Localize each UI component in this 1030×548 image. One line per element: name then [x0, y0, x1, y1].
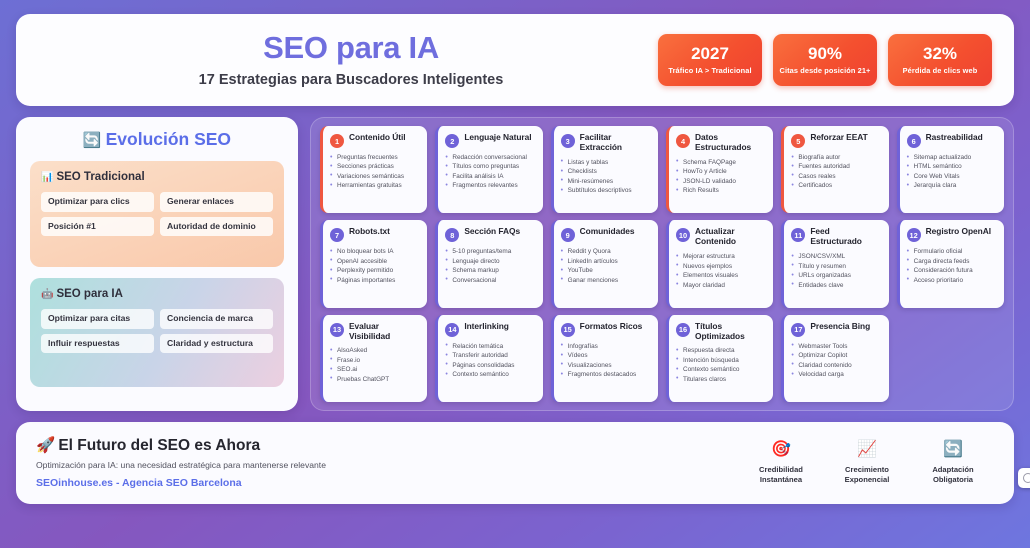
- strategy-number-badge: 5: [791, 134, 805, 148]
- stat-card: 2027 Tráfico IA > Tradicional: [658, 34, 762, 86]
- strategy-item: Reddit y Quora: [561, 247, 651, 256]
- strategy-card-title: Registro OpenAI: [926, 227, 991, 237]
- strategy-item-list: Relación temáticaTransferir autoridadPág…: [445, 342, 535, 380]
- strategy-number-badge: 8: [445, 228, 459, 242]
- strategy-card-head: 11Feed Estructurado: [791, 227, 881, 247]
- strategy-item: Biografía autor: [791, 153, 881, 162]
- chip: Autoridad de dominio: [160, 217, 273, 236]
- strategy-number-badge: 10: [676, 228, 690, 242]
- evolution-block-title: SEO Tradicional: [56, 171, 144, 183]
- infographic-stage: SEO para IA 17 Estrategias para Buscador…: [0, 0, 1030, 548]
- strategy-card[interactable]: 8Sección FAQs5-10 preguntas/temaLenguaje…: [435, 220, 542, 307]
- evolution-block-ai: 🤖SEO para IA Optimizar para citas Concie…: [30, 278, 284, 387]
- strategy-card-title: Reforzar EEAT: [810, 133, 867, 143]
- strategy-card[interactable]: 6RastreabilidadSitemap actualizadoHTML s…: [897, 126, 1004, 213]
- rocket-icon: 🚀: [36, 437, 55, 454]
- stat-value: 2027: [691, 45, 729, 63]
- strategy-card[interactable]: 17Presencia BingWebmaster ToolsOptimizar…: [781, 315, 888, 402]
- chip: Conciencia de marca: [160, 309, 273, 328]
- page-title: SEO para IA: [44, 31, 658, 65]
- strategy-card-title: Presencia Bing: [810, 322, 870, 332]
- strategy-item: 5-10 preguntas/tema: [445, 247, 535, 256]
- footer-text-block: 🚀El Futuro del SEO es Ahora Optimización…: [36, 437, 750, 490]
- strategy-card-title: Actualizar Contenido: [695, 227, 766, 247]
- strategy-card-head: 12Registro OpenAI: [907, 227, 997, 242]
- strategy-item: No bloquear bots IA: [330, 247, 420, 256]
- strategy-card-head: 17Presencia Bing: [791, 322, 881, 337]
- strategy-item: Títulos como preguntas: [445, 162, 535, 171]
- strategy-item: Perplexity permitido: [330, 266, 420, 275]
- strategy-item: URLs organizadas: [791, 271, 881, 280]
- stat-label: Pérdida de clics web: [903, 66, 978, 75]
- strategy-item-list: 5-10 preguntas/temaLenguaje directoSchem…: [445, 247, 535, 285]
- strategy-item: Claridad contenido: [791, 361, 881, 370]
- strategy-item: Contexto semántico: [676, 365, 766, 374]
- chip-group: Optimizar para clics Generar enlaces Pos…: [41, 192, 273, 236]
- strategy-card[interactable]: 5Reforzar EEATBiografía autorFuentes aut…: [781, 126, 888, 213]
- chip: Generar enlaces: [160, 192, 273, 211]
- strategy-card-title: Datos Estructurados: [695, 133, 766, 153]
- strategy-item-list: Sitemap actualizadoHTML semánticoCore We…: [907, 153, 997, 191]
- strategy-item-list: Schema FAQPageHowTo y ArticleJSON-LD val…: [676, 158, 766, 196]
- evolution-block-heading: 📊SEO Tradicional: [41, 171, 273, 184]
- footer-feature: 🔄 Adaptación Obligatoria: [922, 442, 984, 484]
- strategy-item: Entidades clave: [791, 281, 881, 290]
- strategy-card-head: 15Formatos Ricos: [561, 322, 651, 337]
- strategy-card[interactable]: 16Títulos OptimizadosRespuesta directaIn…: [666, 315, 773, 402]
- strategy-number-badge: 9: [561, 228, 575, 242]
- strategy-number-badge: 4: [676, 134, 690, 148]
- refresh-icon: 🔄: [922, 442, 984, 458]
- strategy-card[interactable]: 12Registro OpenAIFormulario oficialCarga…: [897, 220, 1004, 307]
- strategy-card[interactable]: 15Formatos RicosInfografíasVídeosVisuali…: [551, 315, 658, 402]
- strategy-item: Vídeos: [561, 351, 651, 360]
- strategy-grid-row: 7Robots.txtNo bloquear bots IAOpenAI acc…: [320, 220, 1004, 307]
- strategy-number-badge: 1: [330, 134, 344, 148]
- circle-icon: [1023, 473, 1030, 483]
- strategy-card-head: 8Sección FAQs: [445, 227, 535, 242]
- strategy-card[interactable]: 3Facilitar ExtracciónListas y tablasChec…: [551, 126, 658, 213]
- strategy-card-head: 6Rastreabilidad: [907, 133, 997, 148]
- strategy-item-list: Listas y tablasChecklistsMini-resúmenesS…: [561, 158, 651, 196]
- strategy-item: HowTo y Article: [676, 167, 766, 176]
- strategy-item: Título y resumen: [791, 262, 881, 271]
- stat-card-group: 2027 Tráfico IA > Tradicional 90% Citas …: [658, 34, 992, 86]
- strategy-card-head: 10Actualizar Contenido: [676, 227, 766, 247]
- strategy-item-list: Redacción conversacionalTítulos como pre…: [445, 153, 535, 191]
- footer-title: 🚀El Futuro del SEO es Ahora: [36, 437, 750, 455]
- strategy-item: Titulares claros: [676, 375, 766, 384]
- strategy-card-head: 3Facilitar Extracción: [561, 133, 651, 153]
- strategy-item: Intención búsqueda: [676, 356, 766, 365]
- strategy-card-title: Rastreabilidad: [926, 133, 983, 143]
- chip-group: Optimizar para citas Conciencia de marca…: [41, 309, 273, 353]
- strategy-item: LinkedIn artículos: [561, 257, 651, 266]
- strategy-item: Infografías: [561, 342, 651, 351]
- strategy-item: Secciones prácticas: [330, 162, 420, 171]
- strategy-item-list: Formulario oficialCarga directa feedsCon…: [907, 247, 997, 285]
- strategy-item: Listas y tablas: [561, 158, 651, 167]
- strategy-card[interactable]: 14InterlinkingRelación temáticaTransferi…: [435, 315, 542, 402]
- strategy-item: JSON/CSV/XML: [791, 252, 881, 261]
- stat-card: 32% Pérdida de clics web: [888, 34, 992, 86]
- strategy-item: Carga directa feeds: [907, 257, 997, 266]
- strategy-item-list: Webmaster ToolsOptimizar CopilotClaridad…: [791, 342, 881, 380]
- footer-feature-label: Crecimiento Exponencial: [836, 465, 898, 484]
- strategy-item: Fragmentos relevantes: [445, 181, 535, 190]
- strategy-item: Core Web Vitals: [907, 172, 997, 181]
- stat-value: 90%: [808, 45, 842, 63]
- footer-feature: 📈 Crecimiento Exponencial: [836, 442, 898, 484]
- footer-feature-label: Credibilidad Instantánea: [750, 465, 812, 484]
- strategy-item: Fragmentos destacados: [561, 370, 651, 379]
- strategy-item-list: InfografíasVídeosVisualizacionesFragment…: [561, 342, 651, 380]
- strategy-item: Nuevos ejemplos: [676, 262, 766, 271]
- header-titles: SEO para IA 17 Estrategias para Buscador…: [16, 31, 658, 88]
- strategy-card-head: 2Lenguaje Natural: [445, 133, 535, 148]
- strategy-item: Schema markup: [445, 266, 535, 275]
- strategy-item: SEO.ai: [330, 365, 420, 374]
- strategy-card-title: Evaluar Visibilidad: [349, 322, 420, 342]
- strategy-card-title: Facilitar Extracción: [580, 133, 651, 153]
- strategy-item: Relación temática: [445, 342, 535, 351]
- strategy-number-badge: 2: [445, 134, 459, 148]
- strategy-item: Lenguaje directo: [445, 257, 535, 266]
- strategy-item: Jerarquía clara: [907, 181, 997, 190]
- strategy-item: Subtítulos descriptivos: [561, 186, 651, 195]
- strategy-item: Elementos visuales: [676, 271, 766, 280]
- strategy-card-head: 16Títulos Optimizados: [676, 322, 766, 342]
- strategy-number-badge: 15: [561, 323, 575, 337]
- strategy-item: Facilita análisis IA: [445, 172, 535, 181]
- evolution-title: 🔄Evolución SEO: [30, 130, 284, 150]
- strategy-item: Pruebas ChatGPT: [330, 375, 420, 384]
- strategy-item: Frase.io: [330, 356, 420, 365]
- refresh-icon: 🔄: [83, 132, 102, 149]
- strategy-item-list: JSON/CSV/XMLTítulo y resumenURLs organiz…: [791, 252, 881, 290]
- chip: Posición #1: [41, 217, 154, 236]
- strategy-card[interactable]: 10Actualizar ContenidoMejorar estructura…: [666, 220, 773, 307]
- strategy-item: Transferir autoridad: [445, 351, 535, 360]
- middle-section: 🔄Evolución SEO 📊SEO Tradicional Optimiza…: [16, 117, 1014, 411]
- strategy-item: Casos reales: [791, 172, 881, 181]
- strategy-item: AlsoAsked: [330, 346, 420, 355]
- strategy-item: Schema FAQPage: [676, 158, 766, 167]
- strategy-item: Variaciones semánticas: [330, 172, 420, 181]
- strategy-card-title: Formatos Ricos: [580, 322, 643, 332]
- strategy-card-head: 5Reforzar EEAT: [791, 133, 881, 148]
- strategy-card-head: 4Datos Estructurados: [676, 133, 766, 153]
- target-icon: 🎯: [750, 442, 812, 458]
- footer-feature-label: Adaptación Obligatoria: [922, 465, 984, 484]
- bar-chart-icon: 📊: [41, 172, 53, 183]
- chip: Claridad y estructura: [160, 334, 273, 353]
- strategy-item: Ganar menciones: [561, 276, 651, 285]
- strategy-item: Consideración futura: [907, 266, 997, 275]
- strategy-item: Mayor claridad: [676, 281, 766, 290]
- evolution-title-text: Evolución SEO: [106, 129, 231, 149]
- strategy-grid-row: 1Contenido ÚtilPreguntas frecuentesSecci…: [320, 126, 1004, 213]
- stat-label: Tráfico IA > Tradicional: [668, 66, 751, 75]
- strategy-item: Conversacional: [445, 276, 535, 285]
- chart-increasing-icon: 📈: [836, 442, 898, 458]
- stat-value: 32%: [923, 45, 957, 63]
- strategy-card-title: Lenguaje Natural: [464, 133, 531, 143]
- strategy-item: Checklists: [561, 167, 651, 176]
- strategy-card-title: Sección FAQs: [464, 227, 520, 237]
- strategy-item: Fuentes autoridad: [791, 162, 881, 171]
- strategy-item: Páginas importantes: [330, 276, 420, 285]
- strategy-card[interactable]: 1Contenido ÚtilPreguntas frecuentesSecci…: [320, 126, 427, 213]
- strategy-card[interactable]: 7Robots.txtNo bloquear bots IAOpenAI acc…: [320, 220, 427, 307]
- strategy-card-title: Comunidades: [580, 227, 635, 237]
- strategy-card[interactable]: 11Feed EstructuradoJSON/CSV/XMLTítulo y …: [781, 220, 888, 307]
- strategy-item-list: Respuesta directaIntención búsquedaConte…: [676, 346, 766, 384]
- strategy-number-badge: 14: [445, 323, 459, 337]
- strategy-grid-row: 13Evaluar VisibilidadAlsoAskedFrase.ioSE…: [320, 315, 1004, 402]
- strategy-card-title: Contenido Útil: [349, 133, 406, 143]
- strategy-card-title: Títulos Optimizados: [695, 322, 766, 342]
- strategy-card-head: 1Contenido Útil: [330, 133, 420, 148]
- footer-panel: 🚀El Futuro del SEO es Ahora Optimización…: [16, 422, 1014, 504]
- strategy-grid: 1Contenido ÚtilPreguntas frecuentesSecci…: [310, 117, 1014, 411]
- strategy-item: Acceso prioritario: [907, 276, 997, 285]
- stat-card: 90% Citas desde posición 21+: [773, 34, 877, 86]
- strategy-card[interactable]: 2Lenguaje NaturalRedacción conversaciona…: [435, 126, 542, 213]
- header-panel: SEO para IA 17 Estrategias para Buscador…: [16, 14, 1014, 106]
- strategy-item: Herramientas gratuitas: [330, 181, 420, 190]
- strategy-number-badge: 11: [791, 228, 805, 242]
- strategy-item: JSON-LD validado: [676, 177, 766, 186]
- strategy-item: Respuesta directa: [676, 346, 766, 355]
- evolution-block-heading: 🤖SEO para IA: [41, 288, 273, 301]
- strategy-item: Preguntas frecuentes: [330, 153, 420, 162]
- strategy-item: Contexto semántico: [445, 370, 535, 379]
- footer-subtitle: Optimización para IA: una necesidad estr…: [36, 460, 750, 470]
- strategy-card-head: 14Interlinking: [445, 322, 535, 337]
- strategy-number-badge: 16: [676, 323, 690, 337]
- strategy-item: YouTube: [561, 266, 651, 275]
- strategy-item: Visualizaciones: [561, 361, 651, 370]
- strategy-card-head: 9Comunidades: [561, 227, 651, 242]
- page-subtitle: 17 Estrategias para Buscadores Inteligen…: [44, 73, 658, 89]
- strategy-item: Mejorar estructura: [676, 252, 766, 261]
- strategy-item: Mini-resúmenes: [561, 177, 651, 186]
- evolution-panel: 🔄Evolución SEO 📊SEO Tradicional Optimiza…: [16, 117, 298, 411]
- strategy-number-badge: 17: [791, 323, 805, 337]
- strategy-item-list: Preguntas frecuentesSecciones prácticasV…: [330, 153, 420, 191]
- strategy-item-list: No bloquear bots IAOpenAI accesiblePerpl…: [330, 247, 420, 285]
- strategy-card[interactable]: 4Datos EstructuradosSchema FAQPageHowTo …: [666, 126, 773, 213]
- strategy-card[interactable]: 13Evaluar VisibilidadAlsoAskedFrase.ioSE…: [320, 315, 427, 402]
- strategy-item: Optimizar Copilot: [791, 351, 881, 360]
- strategy-item-list: Reddit y QuoraLinkedIn artículosYouTubeG…: [561, 247, 651, 285]
- strategy-card-title: Robots.txt: [349, 227, 390, 237]
- footer-feature: 🎯 Credibilidad Instantánea: [750, 442, 812, 484]
- footer-feature-group: 🎯 Credibilidad Instantánea 📈 Crecimiento…: [750, 442, 992, 484]
- strategy-number-badge: 3: [561, 134, 575, 148]
- strategy-item: Formulario oficial: [907, 247, 997, 256]
- strategy-number-badge: 6: [907, 134, 921, 148]
- footer-link[interactable]: SEOinhouse.es - Agencia SEO Barcelona: [36, 477, 750, 490]
- strategy-number-badge: 13: [330, 323, 344, 337]
- footer-title-text: El Futuro del SEO es Ahora: [58, 437, 260, 454]
- strategy-card-head: 7Robots.txt: [330, 227, 420, 242]
- strategy-item-list: AlsoAskedFrase.ioSEO.aiPruebas ChatGPT: [330, 346, 420, 384]
- strategy-item: Sitemap actualizado: [907, 153, 997, 162]
- strategy-number-badge: 12: [907, 228, 921, 242]
- strategy-card-title: Interlinking: [464, 322, 509, 332]
- chip: Optimizar para citas: [41, 309, 154, 328]
- strategy-card-head: 13Evaluar Visibilidad: [330, 322, 420, 342]
- strategy-item: Webmaster Tools: [791, 342, 881, 351]
- strategy-item: Redacción conversacional: [445, 153, 535, 162]
- robot-icon: 🤖: [41, 289, 53, 300]
- strategy-card-title: Feed Estructurado: [810, 227, 881, 247]
- strategy-item: Velocidad carga: [791, 370, 881, 379]
- chip: Influir respuestas: [41, 334, 154, 353]
- strategy-item: Rich Results: [676, 186, 766, 195]
- strategy-item: OpenAI accesible: [330, 257, 420, 266]
- strategy-item: HTML semántico: [907, 162, 997, 171]
- stat-label: Citas desde posición 21+: [780, 66, 871, 75]
- strategy-item-list: Biografía autorFuentes autoridadCasos re…: [791, 153, 881, 191]
- chip: Optimizar para clics: [41, 192, 154, 211]
- strategy-item: Páginas consolidadas: [445, 361, 535, 370]
- strategy-card[interactable]: 9ComunidadesReddit y QuoraLinkedIn artíc…: [551, 220, 658, 307]
- strategy-number-badge: 7: [330, 228, 344, 242]
- floating-widget-button[interactable]: [1018, 468, 1030, 488]
- strategy-item-list: Mejorar estructuraNuevos ejemplosElement…: [676, 252, 766, 290]
- evolution-block-title: SEO para IA: [56, 288, 122, 300]
- strategy-item: Certificados: [791, 181, 881, 190]
- evolution-block-traditional: 📊SEO Tradicional Optimizar para clics Ge…: [30, 161, 284, 267]
